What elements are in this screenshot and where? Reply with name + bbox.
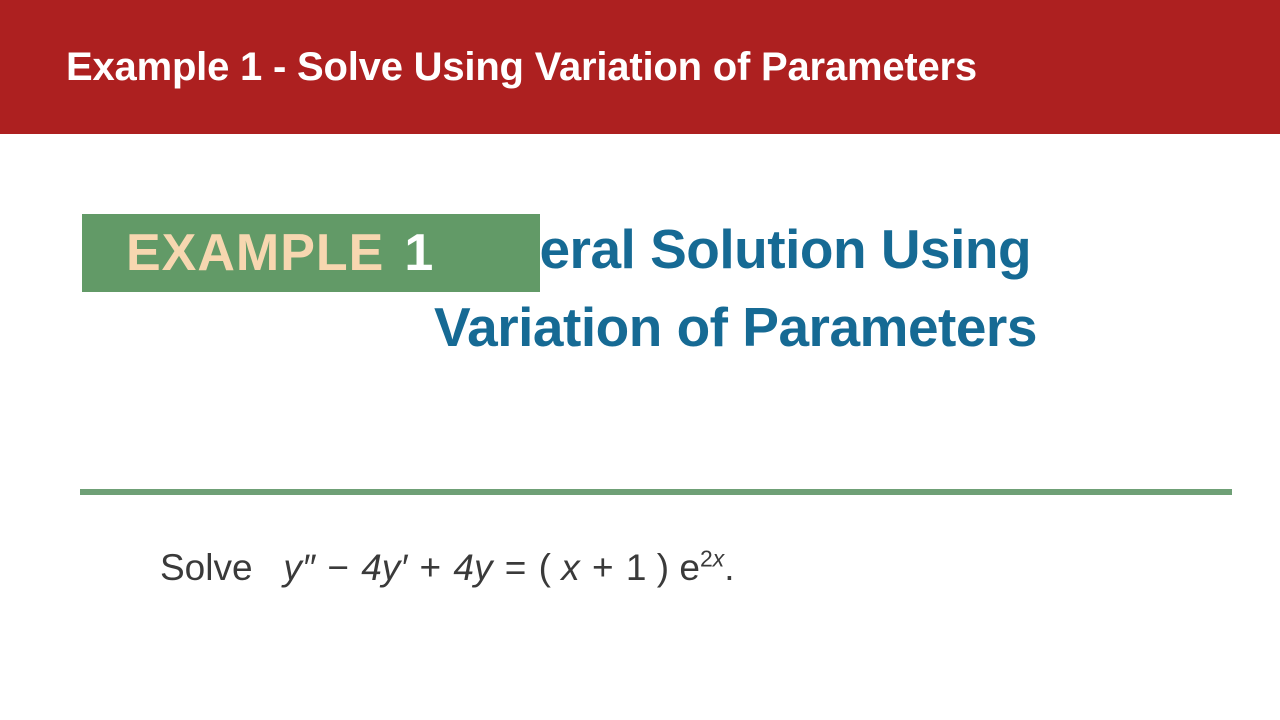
term-e: e <box>679 547 700 588</box>
problem-prefix: Solve <box>160 547 253 588</box>
example-badge: EXAMPLE 1 <box>82 214 540 292</box>
exponent-coefficient: 2 <box>700 546 713 572</box>
example-badge-label: EXAMPLE <box>126 227 384 279</box>
paren-close: ) <box>657 547 669 588</box>
term-4y: 4y <box>453 547 492 588</box>
page-title: Example 1 - Solve Using Variation of Par… <box>66 45 977 89</box>
header-banner: Example 1 - Solve Using Variation of Par… <box>0 0 1280 134</box>
operator-plus-rhs: + <box>590 547 616 588</box>
term-4y-prime: 4y′ <box>361 547 407 588</box>
paren-open: ( <box>539 547 551 588</box>
term-y-double-prime: y″ <box>283 547 315 588</box>
operator-plus: + <box>417 547 443 588</box>
exponent-variable: x <box>713 546 724 572</box>
term-one: 1 <box>626 547 647 588</box>
slide-root: Example 1 - Solve Using Variation of Par… <box>0 0 1280 720</box>
problem-statement: Solve y″ − 4y′ + 4y = ( x + 1 ) e2x. <box>160 546 734 590</box>
heading-block: General Solution Using Variation of Para… <box>82 210 1202 366</box>
example-badge-number: 1 <box>404 227 433 279</box>
operator-minus: − <box>325 547 351 588</box>
exponent: 2x <box>700 546 724 572</box>
operator-equals: = <box>503 547 529 588</box>
term-x: x <box>561 547 580 588</box>
figure-area: General Solution Using Variation of Para… <box>0 134 1280 720</box>
period: . <box>724 547 734 588</box>
section-divider <box>80 489 1232 495</box>
